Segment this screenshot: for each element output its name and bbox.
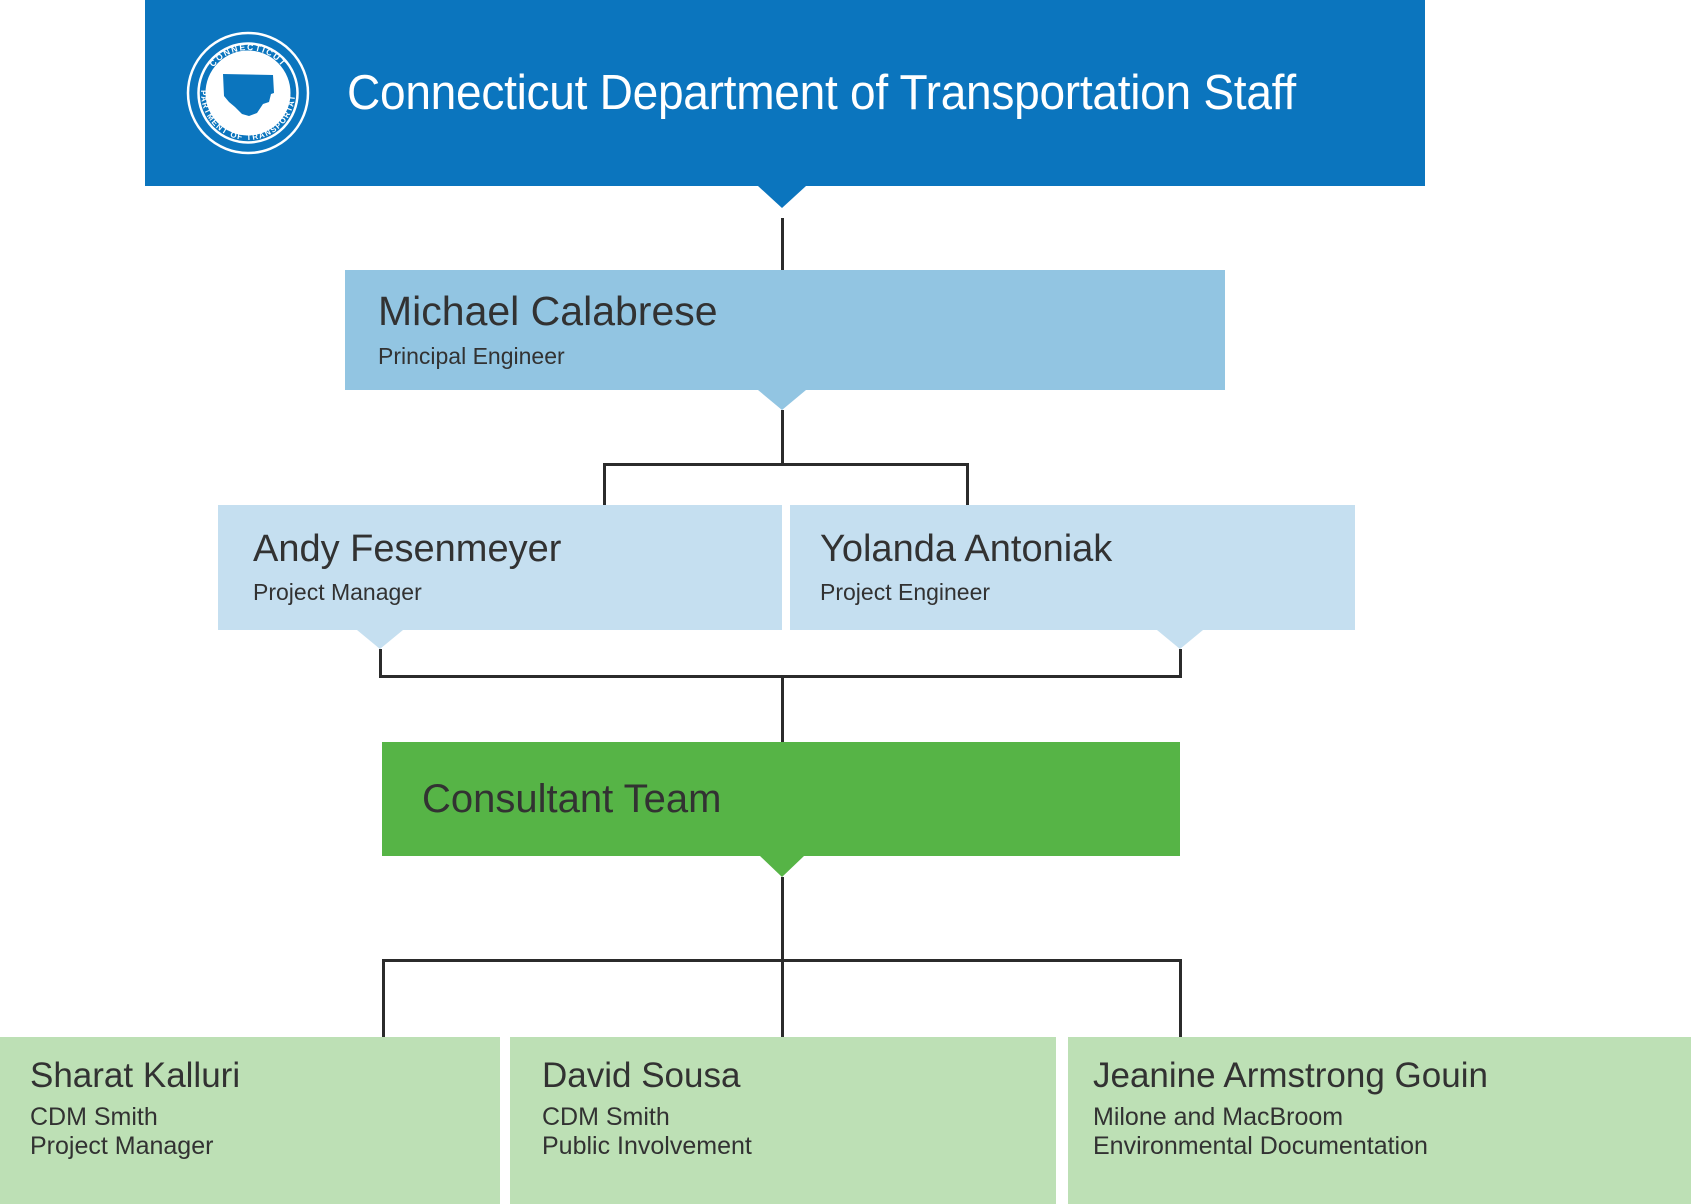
- node-andy-fesenmeyer[interactable]: Andy Fesenmeyer Project Manager: [218, 505, 782, 630]
- fesenmeyer-pointer-icon: [357, 630, 403, 649]
- node-title: Project Engineer: [820, 579, 1355, 606]
- node-name: Jeanine Armstrong Gouin: [1093, 1058, 1691, 1093]
- connector-to-fesenmeyer: [603, 463, 606, 507]
- connector-level1-bar: [603, 463, 969, 466]
- connector-to-consultant-team: [781, 675, 784, 745]
- connector-antoniak-drop: [1179, 649, 1182, 677]
- node-name: Sharat Kalluri: [30, 1058, 500, 1093]
- node-michael-calabrese[interactable]: Michael Calabrese Principal Engineer: [345, 270, 1225, 390]
- connector-to-sousa: [781, 959, 784, 1039]
- node-title: Project Manager: [253, 579, 782, 606]
- node-company: CDM Smith: [30, 1103, 500, 1132]
- level1-pointer-icon: [758, 390, 806, 410]
- node-company: Milone and MacBroom: [1093, 1103, 1691, 1132]
- connector-to-gouin: [1179, 959, 1182, 1039]
- node-sharat-kalluri[interactable]: Sharat Kalluri CDM Smith Project Manager: [0, 1037, 500, 1204]
- connector-level1-drop: [781, 410, 784, 465]
- antoniak-pointer-icon: [1157, 630, 1203, 649]
- node-role: Project Manager: [30, 1132, 500, 1161]
- ctdot-seal-logo: CONNECTICUT DEPARTMENT OF TRANSPORTATION: [185, 30, 311, 156]
- node-jeanine-armstrong-gouin[interactable]: Jeanine Armstrong Gouin Milone and MacBr…: [1068, 1037, 1691, 1204]
- node-name: Yolanda Antoniak: [820, 530, 1355, 568]
- header-pointer-icon: [758, 186, 806, 208]
- connector-to-antoniak: [966, 463, 969, 507]
- node-role: Public Involvement: [542, 1132, 1056, 1161]
- connector-fesenmeyer-drop: [379, 649, 382, 677]
- node-name: Michael Calabrese: [378, 291, 1225, 332]
- node-yolanda-antoniak[interactable]: Yolanda Antoniak Project Engineer: [790, 505, 1355, 630]
- node-name: Andy Fesenmeyer: [253, 530, 782, 568]
- node-role: Environmental Documentation: [1093, 1132, 1691, 1161]
- page-title: Connecticut Department of Transportation…: [347, 65, 1296, 121]
- connector-header-to-level1: [781, 218, 784, 272]
- node-consultant-team[interactable]: Consultant Team: [382, 742, 1180, 856]
- connector-to-kalluri: [382, 959, 385, 1039]
- node-title: Principal Engineer: [378, 343, 1225, 370]
- node-company: CDM Smith: [542, 1103, 1056, 1132]
- node-david-sousa[interactable]: David Sousa CDM Smith Public Involvement: [510, 1037, 1056, 1204]
- consultant-team-pointer-icon: [760, 856, 804, 877]
- connector-consultant-drop: [781, 877, 784, 962]
- org-chart-canvas: CONNECTICUT DEPARTMENT OF TRANSPORTATION…: [0, 0, 1691, 1204]
- node-name: Consultant Team: [422, 779, 1180, 819]
- node-name: David Sousa: [542, 1058, 1056, 1093]
- chart-header-banner: CONNECTICUT DEPARTMENT OF TRANSPORTATION…: [145, 0, 1425, 186]
